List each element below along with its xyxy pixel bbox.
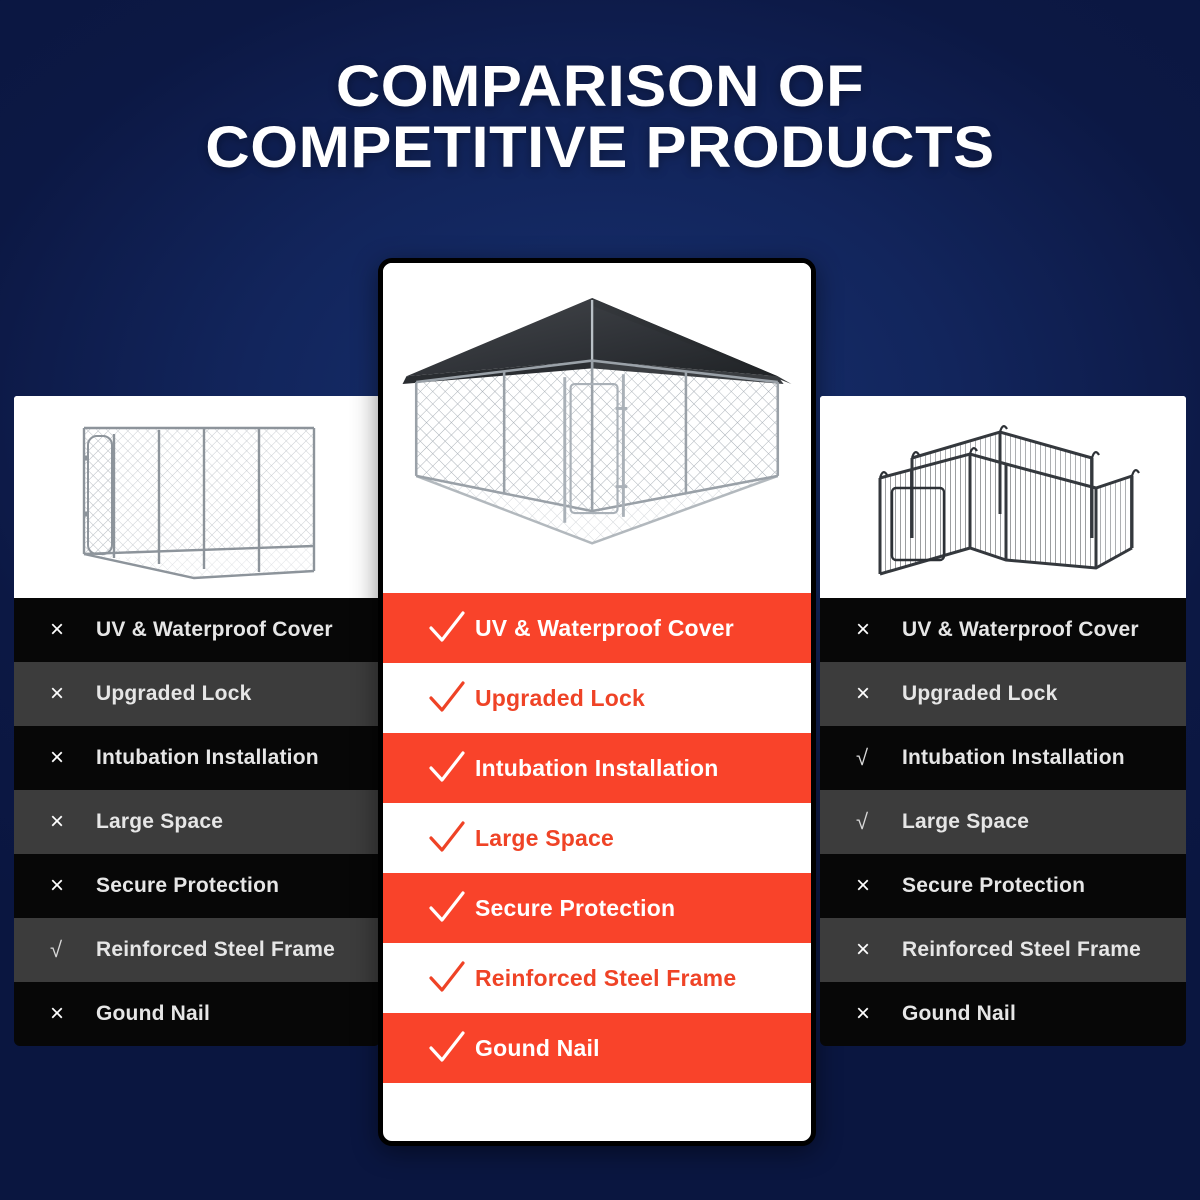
- check-icon: √: [856, 747, 902, 769]
- cross-icon: ×: [50, 682, 96, 706]
- feature-label: Large Space: [902, 810, 1029, 834]
- check-icon: √: [856, 811, 902, 833]
- cross-icon: ×: [856, 938, 902, 962]
- feature-label: Upgraded Lock: [96, 682, 251, 706]
- check-icon: [427, 958, 467, 998]
- check-icon-wrapper: [427, 608, 475, 648]
- feature-label: Intubation Installation: [475, 755, 719, 782]
- feature-label: Gound Nail: [902, 1002, 1016, 1026]
- product-image-right: [820, 396, 1186, 598]
- feature-row-right-5: ×Secure Protection: [820, 854, 1186, 918]
- feature-row-center-5: Secure Protection: [383, 873, 811, 943]
- cross-icon: ×: [50, 810, 96, 834]
- feature-row-right-7: ×Gound Nail: [820, 982, 1186, 1046]
- check-icon: [427, 608, 467, 648]
- feature-row-right-6: ×Reinforced Steel Frame: [820, 918, 1186, 982]
- check-icon-wrapper: [427, 1028, 475, 1068]
- competitor-column-right: ×UV & Waterproof Cover×Upgraded Lock√Int…: [820, 396, 1186, 1046]
- metal-playpen-illustration: [820, 396, 1186, 598]
- feature-label: UV & Waterproof Cover: [475, 615, 734, 642]
- feature-row-right-2: ×Upgraded Lock: [820, 662, 1186, 726]
- feature-label: Large Space: [475, 825, 614, 852]
- feature-label: Reinforced Steel Frame: [902, 938, 1141, 962]
- featured-product-card[interactable]: UV & Waterproof CoverUpgraded LockIntuba…: [378, 258, 816, 1146]
- cross-icon: ×: [856, 618, 902, 642]
- title-line-1: COMPARISON OF: [0, 56, 1200, 117]
- feature-label: Reinforced Steel Frame: [475, 965, 736, 992]
- feature-row-center-7: Gound Nail: [383, 1013, 811, 1083]
- feature-label: Reinforced Steel Frame: [96, 938, 335, 962]
- feature-label: Secure Protection: [902, 874, 1085, 898]
- cross-icon: ×: [856, 1002, 902, 1026]
- feature-row-left-5: ×Secure Protection: [14, 854, 380, 918]
- check-icon-wrapper: [427, 748, 475, 788]
- feature-label: Secure Protection: [475, 895, 675, 922]
- cross-icon: ×: [50, 1002, 96, 1026]
- feature-label: Gound Nail: [475, 1035, 600, 1062]
- feature-row-right-4: √Large Space: [820, 790, 1186, 854]
- check-icon-wrapper: [427, 888, 475, 928]
- feature-list-center: UV & Waterproof CoverUpgraded LockIntuba…: [383, 593, 811, 1083]
- cross-icon: ×: [50, 746, 96, 770]
- cross-icon: ×: [856, 682, 902, 706]
- feature-row-left-6: √Reinforced Steel Frame: [14, 918, 380, 982]
- check-icon: [427, 888, 467, 928]
- check-icon-wrapper: [427, 818, 475, 858]
- cross-icon: ×: [50, 874, 96, 898]
- feature-row-left-1: ×UV & Waterproof Cover: [14, 598, 380, 662]
- feature-row-right-3: √Intubation Installation: [820, 726, 1186, 790]
- feature-row-center-1: UV & Waterproof Cover: [383, 593, 811, 663]
- product-image-left: [14, 396, 380, 598]
- feature-row-center-6: Reinforced Steel Frame: [383, 943, 811, 1013]
- check-icon: [427, 748, 467, 788]
- feature-row-center-2: Upgraded Lock: [383, 663, 811, 733]
- check-icon: [427, 1028, 467, 1068]
- kennel-with-roof-illustration: [383, 263, 811, 593]
- feature-row-right-1: ×UV & Waterproof Cover: [820, 598, 1186, 662]
- product-image-center: [383, 263, 811, 593]
- feature-label: Upgraded Lock: [902, 682, 1057, 706]
- feature-label: Upgraded Lock: [475, 685, 645, 712]
- feature-row-center-3: Intubation Installation: [383, 733, 811, 803]
- feature-label: Large Space: [96, 810, 223, 834]
- competitor-column-left: ×UV & Waterproof Cover×Upgraded Lock×Int…: [14, 396, 380, 1046]
- cross-icon: ×: [50, 618, 96, 642]
- title-line-2: COMPETITIVE PRODUCTS: [0, 117, 1200, 178]
- feature-row-left-7: ×Gound Nail: [14, 982, 380, 1046]
- check-icon: [427, 818, 467, 858]
- check-icon-wrapper: [427, 958, 475, 998]
- check-icon: [427, 678, 467, 718]
- feature-label: Intubation Installation: [96, 746, 319, 770]
- check-icon: √: [50, 939, 96, 961]
- feature-label: Secure Protection: [96, 874, 279, 898]
- kennel-no-roof-illustration: [14, 396, 380, 598]
- feature-label: Intubation Installation: [902, 746, 1125, 770]
- page-title: COMPARISON OF COMPETITIVE PRODUCTS: [0, 56, 1200, 179]
- feature-row-center-4: Large Space: [383, 803, 811, 873]
- feature-row-left-4: ×Large Space: [14, 790, 380, 854]
- feature-label: Gound Nail: [96, 1002, 210, 1026]
- feature-label: UV & Waterproof Cover: [96, 618, 333, 642]
- feature-list-right: ×UV & Waterproof Cover×Upgraded Lock√Int…: [820, 598, 1186, 1046]
- feature-list-left: ×UV & Waterproof Cover×Upgraded Lock×Int…: [14, 598, 380, 1046]
- feature-row-left-3: ×Intubation Installation: [14, 726, 380, 790]
- cross-icon: ×: [856, 874, 902, 898]
- comparison-infographic: COMPARISON OF COMPETITIVE PRODUCTS: [0, 0, 1200, 1200]
- feature-row-left-2: ×Upgraded Lock: [14, 662, 380, 726]
- check-icon-wrapper: [427, 678, 475, 718]
- feature-label: UV & Waterproof Cover: [902, 618, 1139, 642]
